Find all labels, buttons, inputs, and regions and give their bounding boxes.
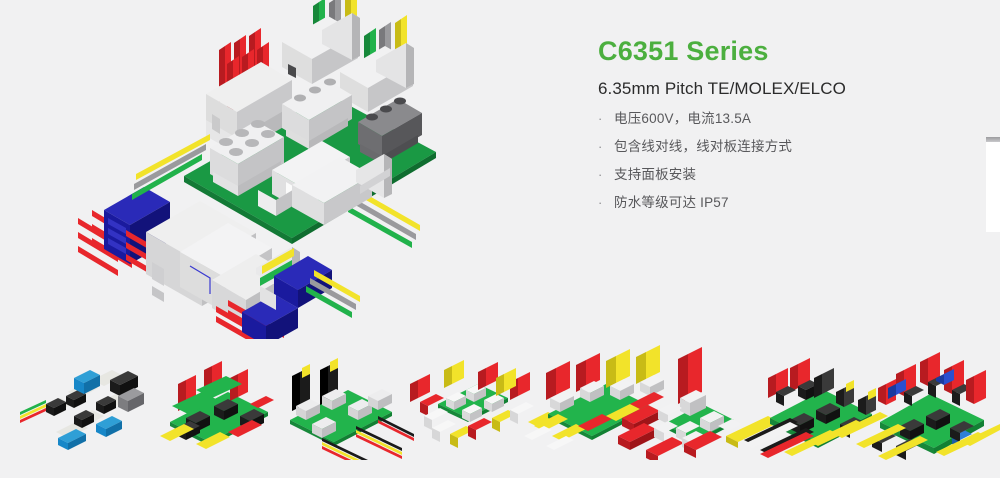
feature-item: · 支持面板安装	[598, 165, 978, 186]
feature-text: 电压600V，电流13.5A	[614, 109, 978, 130]
thumbnail-item-8	[856, 352, 1000, 460]
bullet-dot-icon: ·	[598, 193, 614, 213]
hero-product-render	[60, 0, 560, 339]
feature-item: · 防水等级可达 IP57	[598, 193, 978, 214]
hero-svg	[60, 0, 560, 339]
feature-text: 支持面板安装	[614, 165, 978, 186]
feature-text: 包含线对线，线对板连接方式	[614, 137, 978, 158]
product-slide: C6351 Series 6.35mm Pitch TE/MOLEX/ELCO …	[0, 0, 1000, 488]
bullet-dot-icon: ·	[598, 165, 614, 185]
feature-text: 防水等级可达 IP57	[614, 193, 978, 214]
thumbnail-strip	[0, 340, 1000, 460]
feature-list: · 电压600V，电流13.5A · 包含线对线，线对板连接方式 · 支持面板安…	[598, 109, 978, 214]
feature-item: · 电压600V，电流13.5A	[598, 109, 978, 130]
right-edge-whitespace	[986, 142, 1000, 232]
footer-whitespace	[0, 478, 1000, 488]
product-subtitle: 6.35mm Pitch TE/MOLEX/ELCO	[598, 79, 978, 99]
right-edge-marker	[986, 137, 1000, 142]
thumbnail-strip-svg	[0, 340, 1000, 460]
product-text-panel: C6351 Series 6.35mm Pitch TE/MOLEX/ELCO …	[598, 36, 978, 221]
thumbnail-item-1	[20, 370, 144, 450]
bullet-dot-icon: ·	[598, 137, 614, 157]
thumbnail-item-2	[160, 361, 274, 449]
bullet-dot-icon: ·	[598, 109, 614, 129]
page-title: C6351 Series	[598, 36, 978, 67]
thumbnail-item-3	[290, 358, 414, 460]
feature-item: · 包含线对线，线对板连接方式	[598, 137, 978, 158]
